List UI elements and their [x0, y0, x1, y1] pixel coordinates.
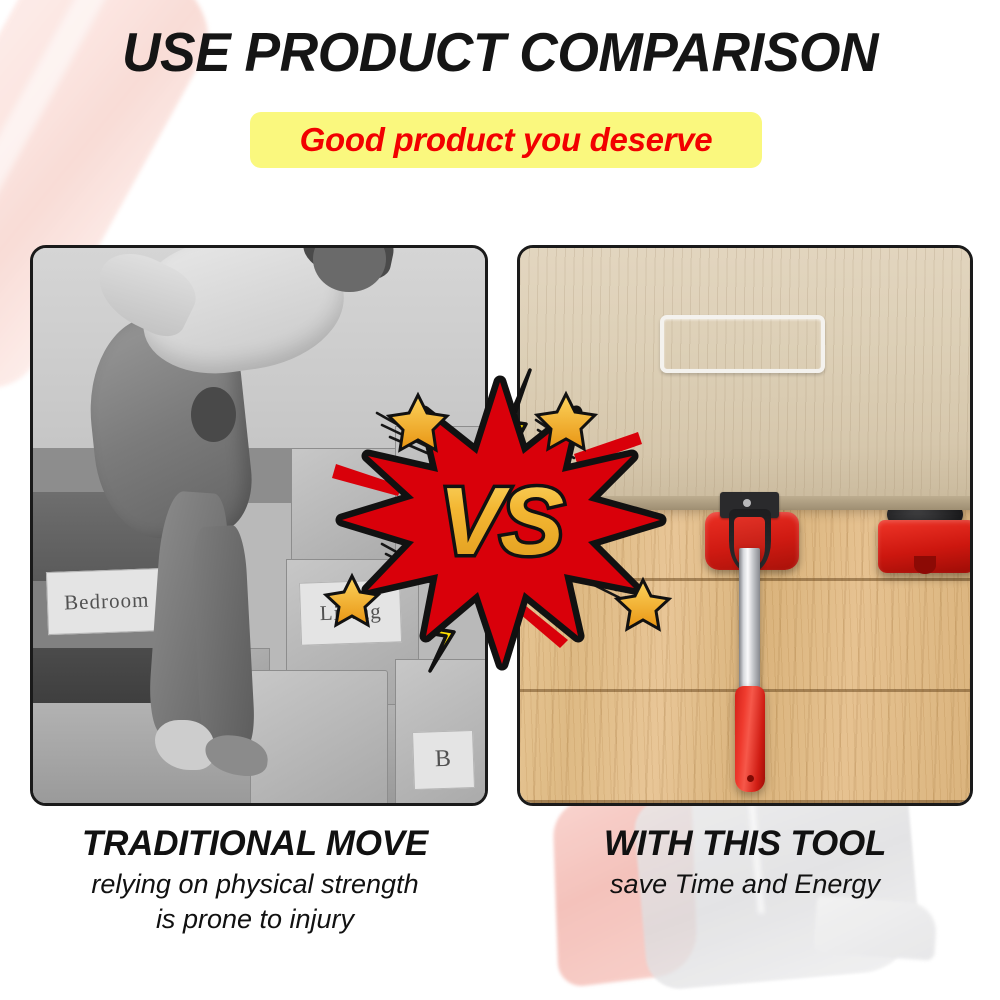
caption-sub-line1-with-tool: save Time and Energy	[510, 868, 980, 901]
box-label-living: Living	[299, 579, 403, 646]
caption-title-traditional: TRADITIONAL MOVE	[20, 822, 490, 866]
comparison-panel-traditional: Bedroom Living B	[30, 245, 488, 806]
furniture-handle	[660, 315, 826, 373]
caption-traditional: TRADITIONAL MOVE relying on physical str…	[20, 822, 490, 936]
subtitle-text: Good product you deserve	[300, 121, 713, 159]
photo-traditional-move: Bedroom Living B	[33, 248, 485, 803]
photo-with-this-tool	[520, 248, 970, 803]
furniture-board	[517, 245, 973, 503]
box-label-bedroom: Bedroom	[45, 568, 167, 635]
page-title: USE PRODUCT COMPARISON	[15, 22, 985, 82]
box-label-b: B	[412, 730, 475, 790]
caption-sub-line2-traditional: is prone to injury	[20, 903, 490, 936]
moving-box	[250, 670, 388, 806]
roller-dolly-right-notch	[914, 556, 937, 574]
product-comparison-infographic: USE PRODUCT COMPARISON Good product you …	[0, 0, 1000, 1000]
lifter-tool-steel-shaft	[739, 548, 761, 698]
caption-with-tool: WITH THIS TOOL save Time and Energy	[510, 822, 980, 901]
subtitle-banner: Good product you deserve	[250, 112, 762, 168]
roller-dolly-left-body	[520, 514, 597, 561]
comparison-panel-with-tool	[517, 245, 973, 806]
person-leg-back	[190, 524, 256, 749]
caption-sub-line1-traditional: relying on physical strength	[20, 868, 490, 901]
caption-title-with-tool: WITH THIS TOOL	[510, 822, 980, 866]
